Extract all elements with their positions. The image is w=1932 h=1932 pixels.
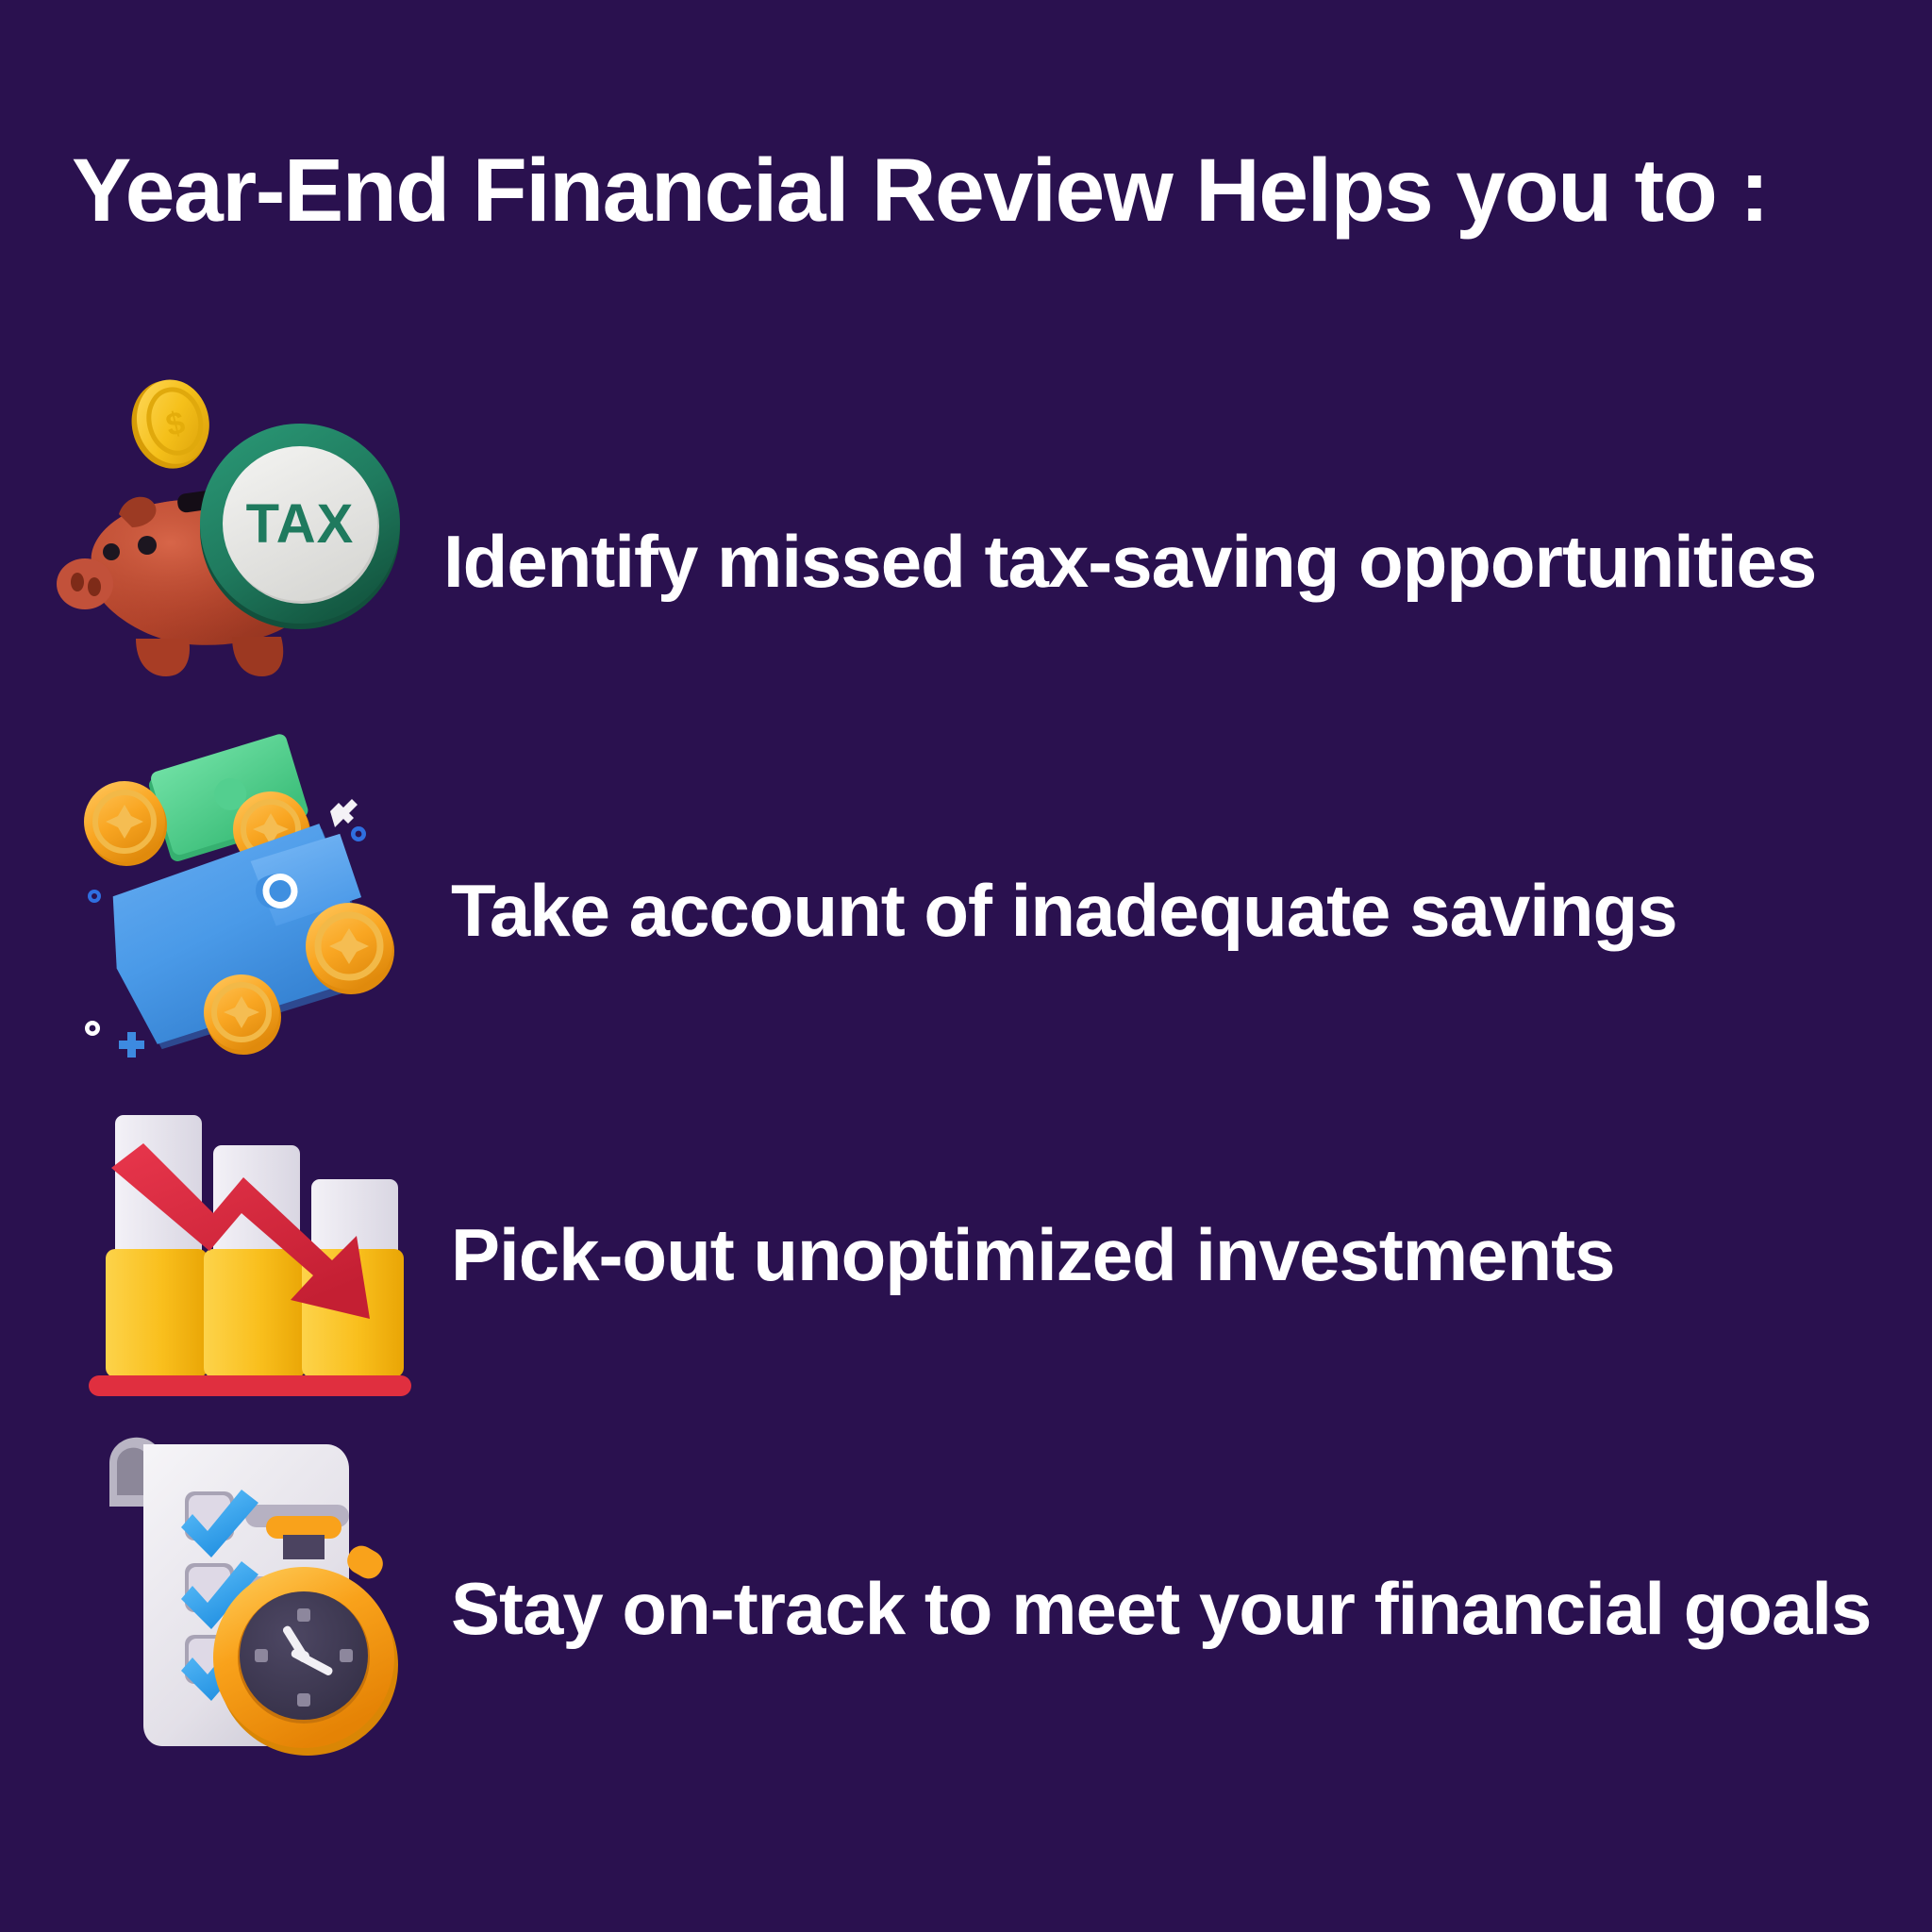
- list-item[interactable]: Take account of inadequate savings: [57, 722, 1924, 1099]
- list-item-label: Identify missed tax-saving opportunities: [443, 519, 1816, 605]
- list-item-label: Take account of inadequate savings: [451, 868, 1677, 954]
- list-item[interactable]: Stay on-track to meet your financial goa…: [57, 1420, 1924, 1797]
- benefits-list: $: [0, 0, 1932, 1932]
- declining-bar-chart-icon: [57, 1066, 434, 1443]
- svg-text:TAX: TAX: [246, 493, 355, 555]
- list-item[interactable]: Pick-out unoptimized investments: [57, 1066, 1924, 1443]
- poster-canvas: Year-End Financial Review Helps you to :: [0, 0, 1932, 1932]
- list-item[interactable]: $: [57, 373, 1924, 750]
- piggy-bank-tax-icon: $: [57, 373, 434, 750]
- checklist-stopwatch-icon: [57, 1420, 434, 1797]
- list-item-label: Pick-out unoptimized investments: [451, 1212, 1614, 1298]
- list-item-label: Stay on-track to meet your financial goa…: [451, 1566, 1871, 1652]
- wallet-money-icon: [57, 722, 434, 1099]
